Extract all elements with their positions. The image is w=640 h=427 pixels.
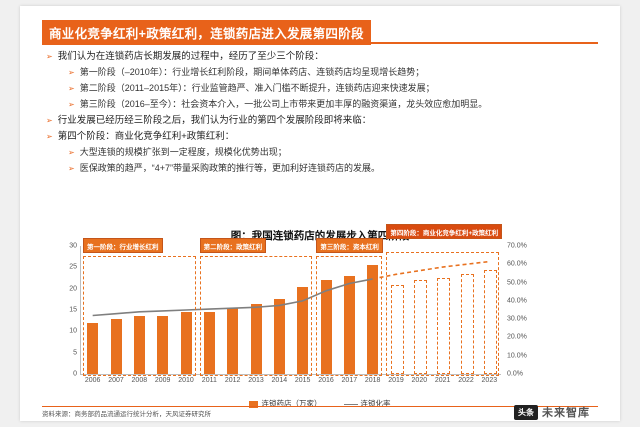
bullet-list: ➢ 我们认为在连锁药店长期发展的过程中，经历了至少三个阶段： ➢ 第一阶段（–2…: [46, 50, 602, 178]
x-axis-tick: 2016: [318, 377, 334, 384]
list-item: ➢ 第四个阶段：商业化竞争红利+政策红利：: [46, 130, 602, 143]
phase-annotation-box: [83, 256, 196, 376]
x-axis-tick: 2009: [155, 377, 171, 384]
bullet-text: 第一阶段（–2010年）：行业增长红利阶段，期间单体药店、连锁药店均呈现增长趋势…: [80, 66, 425, 79]
phase-annotation-box: [386, 252, 499, 376]
list-item: ➢ 第一阶段（–2010年）：行业增长红利阶段，期间单体药店、连锁药店均呈现增长…: [68, 66, 602, 79]
slide: 商业化竞争红利+政策红利，连锁药店进入发展第四阶段 ➢ 我们认为在连锁药店长期发…: [20, 6, 620, 421]
x-axis-tick: 2019: [388, 377, 404, 384]
x-axis-tick: 2021: [435, 377, 451, 384]
y-axis-tick-left: 0: [73, 371, 77, 378]
y-axis-tick-left: 25: [69, 264, 77, 271]
y-axis-tick-right: 60.0%: [507, 261, 527, 268]
x-axis-tick: 2012: [225, 377, 241, 384]
phase-label: 第二阶段：政策红利: [200, 238, 267, 253]
watermark-text: 未来智库: [542, 404, 590, 420]
x-axis-tick: 2008: [132, 377, 148, 384]
arrow-icon: ➢: [68, 162, 75, 175]
x-axis-tick: 2022: [458, 377, 474, 384]
footer: 资料来源：商务部药品流通运行统计分析，天风证券研究所 头条 未来智库: [42, 406, 598, 418]
phase-label: 第三阶段：资本红利: [316, 238, 383, 253]
list-item: ➢ 大型连锁的规模扩张到一定程度，规模化优势出现；: [68, 146, 602, 159]
phase-annotation-box: [316, 256, 382, 376]
x-axis-tick: 2014: [272, 377, 288, 384]
y-axis-tick-right: 0.0%: [507, 371, 523, 378]
y-axis-tick-right: 10.0%: [507, 352, 527, 359]
y-axis-tick-left: 30: [69, 243, 77, 250]
arrow-icon: ➢: [68, 66, 75, 79]
phase-label: 第四阶段：商业化竞争红利+政策红利: [386, 224, 502, 239]
y-axis-tick-left: 5: [73, 349, 77, 356]
y-axis-tick-right: 20.0%: [507, 334, 527, 341]
list-item: ➢ 医保政策的趋严，“4+7”带量采购政策的推行等，更加利好连锁药店的发展。: [68, 162, 602, 175]
phase-annotation-box: [200, 256, 313, 376]
x-axis-tick: 2006: [85, 377, 101, 384]
watermark: 头条 未来智库: [514, 404, 590, 420]
bullet-text: 我们认为在连锁药店长期发展的过程中，经历了至少三个阶段：: [58, 50, 324, 63]
x-axis-tick: 2023: [482, 377, 498, 384]
bullet-text: 第三阶段（2016–至今）：社会资本介入，一批公司上市带来更加丰厚的融资渠道，龙…: [80, 98, 488, 111]
y-axis-tick-left: 10: [69, 328, 77, 335]
chart-plot-area: 0510152025300.0%10.0%20.0%30.0%40.0%50.0…: [80, 246, 501, 375]
y-axis-tick-right: 40.0%: [507, 297, 527, 304]
list-item: ➢ 第二阶段（2011–2015年）：行业监管趋严、准入门槛不断提升，连锁药店迎…: [68, 82, 602, 95]
y-axis-tick-right: 50.0%: [507, 279, 527, 286]
bullet-text: 行业发展已经历经三阶段之后，我们认为行业的第四个发展阶段即将来临：: [58, 114, 372, 127]
title-bar: 商业化竞争红利+政策红利，连锁药店进入发展第四阶段: [42, 20, 598, 44]
list-item: ➢ 我们认为在连锁药店长期发展的过程中，经历了至少三个阶段：: [46, 50, 602, 63]
phase-label: 第一阶段：行业增长红利: [83, 238, 163, 253]
x-axis-tick: 2017: [342, 377, 358, 384]
x-axis-tick: 2007: [108, 377, 124, 384]
bullet-text: 第二阶段（2011–2015年）：行业监管趋严、准入门槛不断提升，连锁药店迎来快…: [80, 82, 435, 95]
list-item: ➢ 第三阶段（2016–至今）：社会资本介入，一批公司上市带来更加丰厚的融资渠道…: [68, 98, 602, 111]
list-item: ➢ 行业发展已经历经三阶段之后，我们认为行业的第四个发展阶段即将来临：: [46, 114, 602, 127]
y-axis-tick-left: 20: [69, 285, 77, 292]
x-axis-tick: 2010: [178, 377, 194, 384]
arrow-icon: ➢: [46, 114, 53, 127]
legend-swatch-line: [344, 404, 358, 405]
x-axis-tick: 2013: [248, 377, 264, 384]
watermark-badge: 头条: [514, 405, 538, 420]
arrow-icon: ➢: [46, 130, 53, 143]
x-axis-tick: 2020: [412, 377, 428, 384]
bullet-text: 大型连锁的规模扩张到一定程度，规模化优势出现；: [80, 146, 287, 159]
y-axis-tick-right: 70.0%: [507, 243, 527, 250]
x-axis-tick: 2018: [365, 377, 381, 384]
bullet-text: 医保政策的趋严，“4+7”带量采购政策的推行等，更加利好连锁药店的发展。: [80, 162, 380, 175]
arrow-icon: ➢: [68, 98, 75, 111]
bullet-text: 第四个阶段：商业化竞争红利+政策红利：: [58, 130, 235, 143]
x-axis-tick: 2015: [295, 377, 311, 384]
chart: 0510152025300.0%10.0%20.0%30.0%40.0%50.0…: [80, 246, 560, 386]
arrow-icon: ➢: [68, 82, 75, 95]
page-title: 商业化竞争红利+政策红利，连锁药店进入发展第四阶段: [42, 20, 371, 45]
y-axis-tick-left: 15: [69, 307, 77, 314]
source-note: 资料来源：商务部药品流通运行统计分析，天风证券研究所: [42, 408, 211, 418]
arrow-icon: ➢: [68, 146, 75, 159]
y-axis-tick-right: 30.0%: [507, 316, 527, 323]
arrow-icon: ➢: [46, 50, 53, 63]
x-axis-tick: 2011: [202, 377, 217, 384]
